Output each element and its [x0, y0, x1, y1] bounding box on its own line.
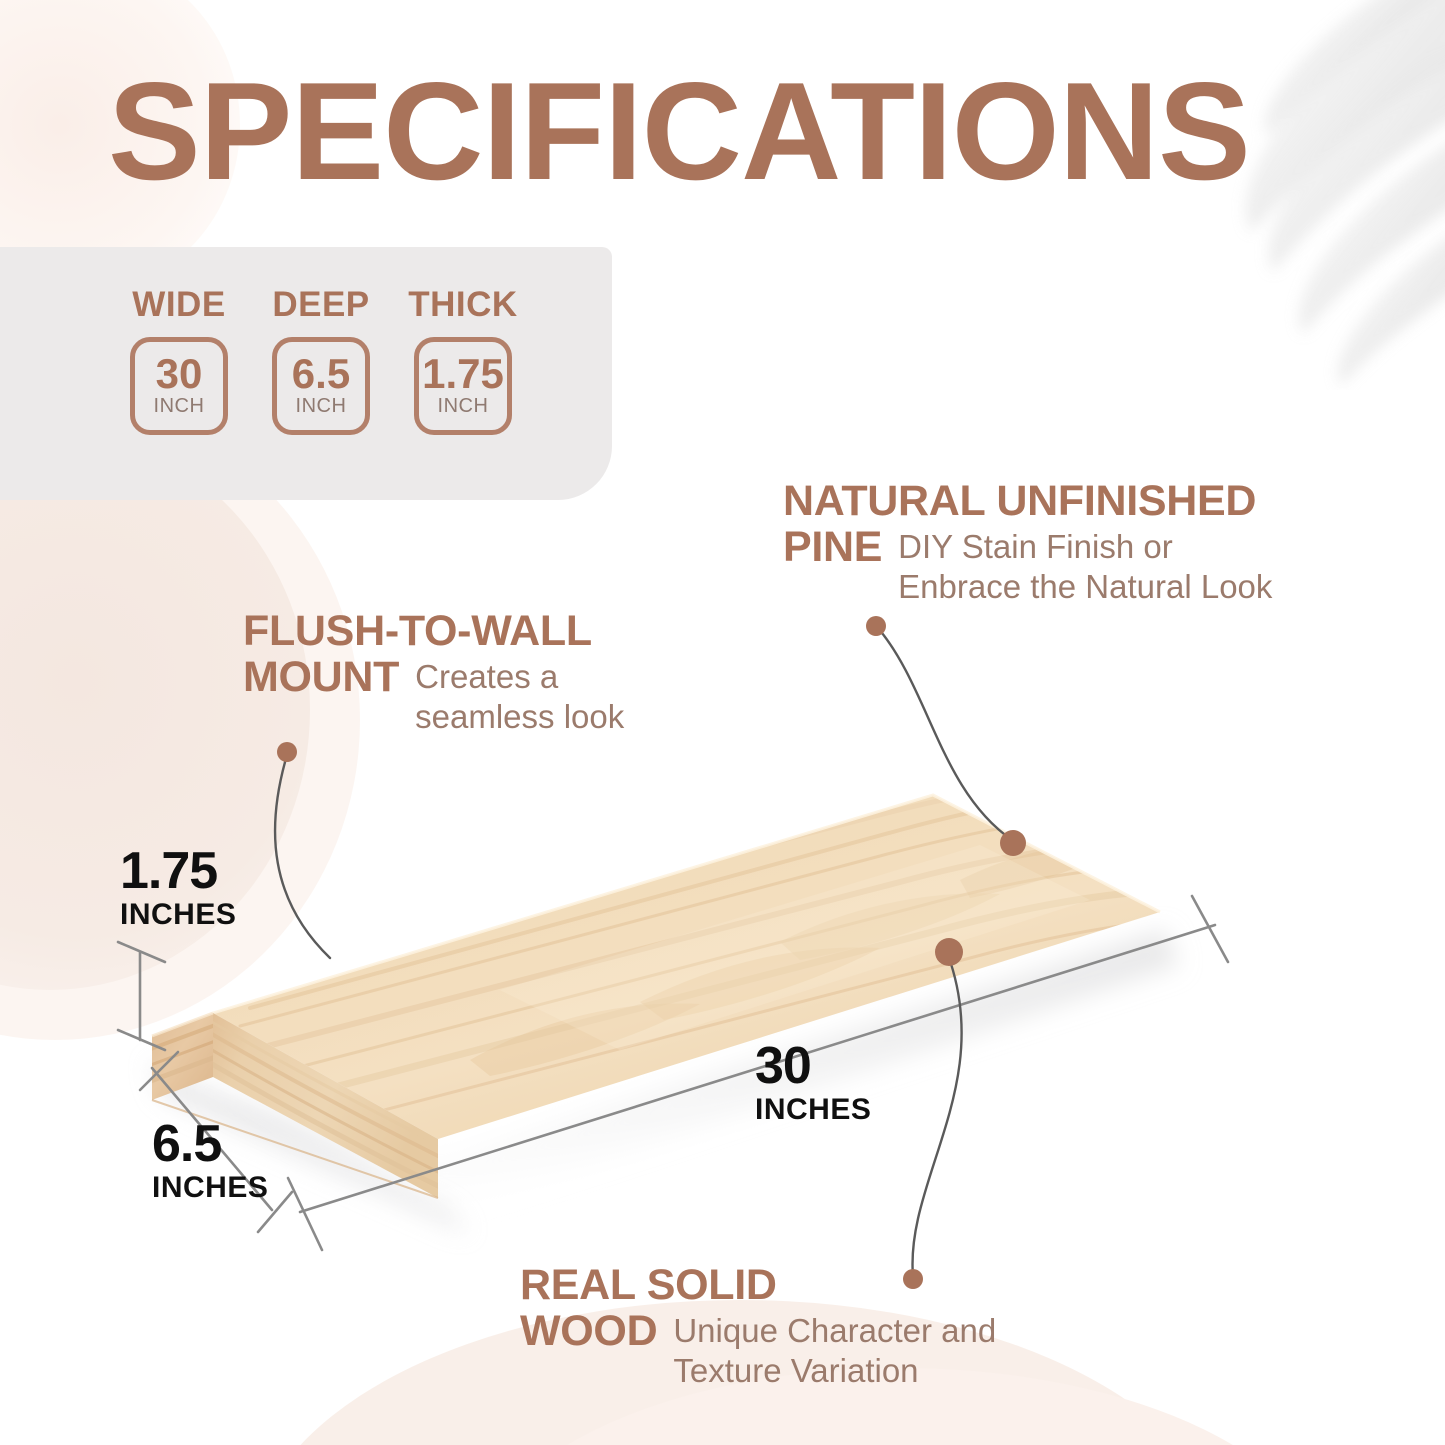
dimension-unit-length: INCHES [755, 1092, 871, 1128]
dimension-number-depth: 6.5 [152, 1118, 268, 1170]
dot-wood-board [935, 938, 963, 966]
feature-heading-wood-line2: WOOD [520, 1308, 657, 1354]
dimension-lines [118, 896, 1228, 1250]
feature-callout-flush-mount: FLUSH-TO-WALL MOUNT Creates a seamless l… [243, 608, 743, 736]
dimension-unit-depth: INCHES [152, 1170, 268, 1206]
leader-real-solid-wood [912, 955, 961, 1276]
leader-natural-pine [878, 628, 1012, 840]
feature-heading-flush-line1: FLUSH-TO-WALL [243, 608, 743, 654]
feature-heading-pine-line2: PINE [783, 524, 882, 570]
dimension-label-length: 30 INCHES [755, 1040, 871, 1128]
dimension-number-length: 30 [755, 1040, 871, 1092]
infographic-canvas: SPECIFICATIONS WIDE 30 INCH DEEP 6.5 INC… [0, 0, 1445, 1445]
dot-pine-board [1000, 830, 1026, 856]
dimension-label-thickness: 1.75 INCHES [120, 845, 236, 933]
leader-flush-to-wall [275, 755, 330, 958]
feature-body-wood: Unique Character and Texture Variation [673, 1308, 1053, 1390]
feature-body-pine: DIY Stain Finish or Enbrace the Natural … [898, 524, 1298, 606]
dot-flush-text [277, 742, 297, 762]
feature-heading-flush-line2: MOUNT [243, 654, 399, 700]
dimension-unit-thickness: INCHES [120, 897, 236, 933]
dimension-number-thickness: 1.75 [120, 845, 236, 897]
feature-heading-wood-line1: REAL SOLID [520, 1262, 1160, 1308]
dot-pine-text [866, 616, 886, 636]
feature-callout-natural-pine: NATURAL UNFINISHED PINE DIY Stain Finish… [783, 478, 1363, 606]
feature-heading-pine-line1: NATURAL UNFINISHED [783, 478, 1363, 524]
feature-callout-real-solid-wood: REAL SOLID WOOD Unique Character and Tex… [520, 1262, 1160, 1390]
feature-body-flush: Creates a seamless look [415, 654, 665, 736]
dimension-label-depth: 6.5 INCHES [152, 1118, 268, 1206]
